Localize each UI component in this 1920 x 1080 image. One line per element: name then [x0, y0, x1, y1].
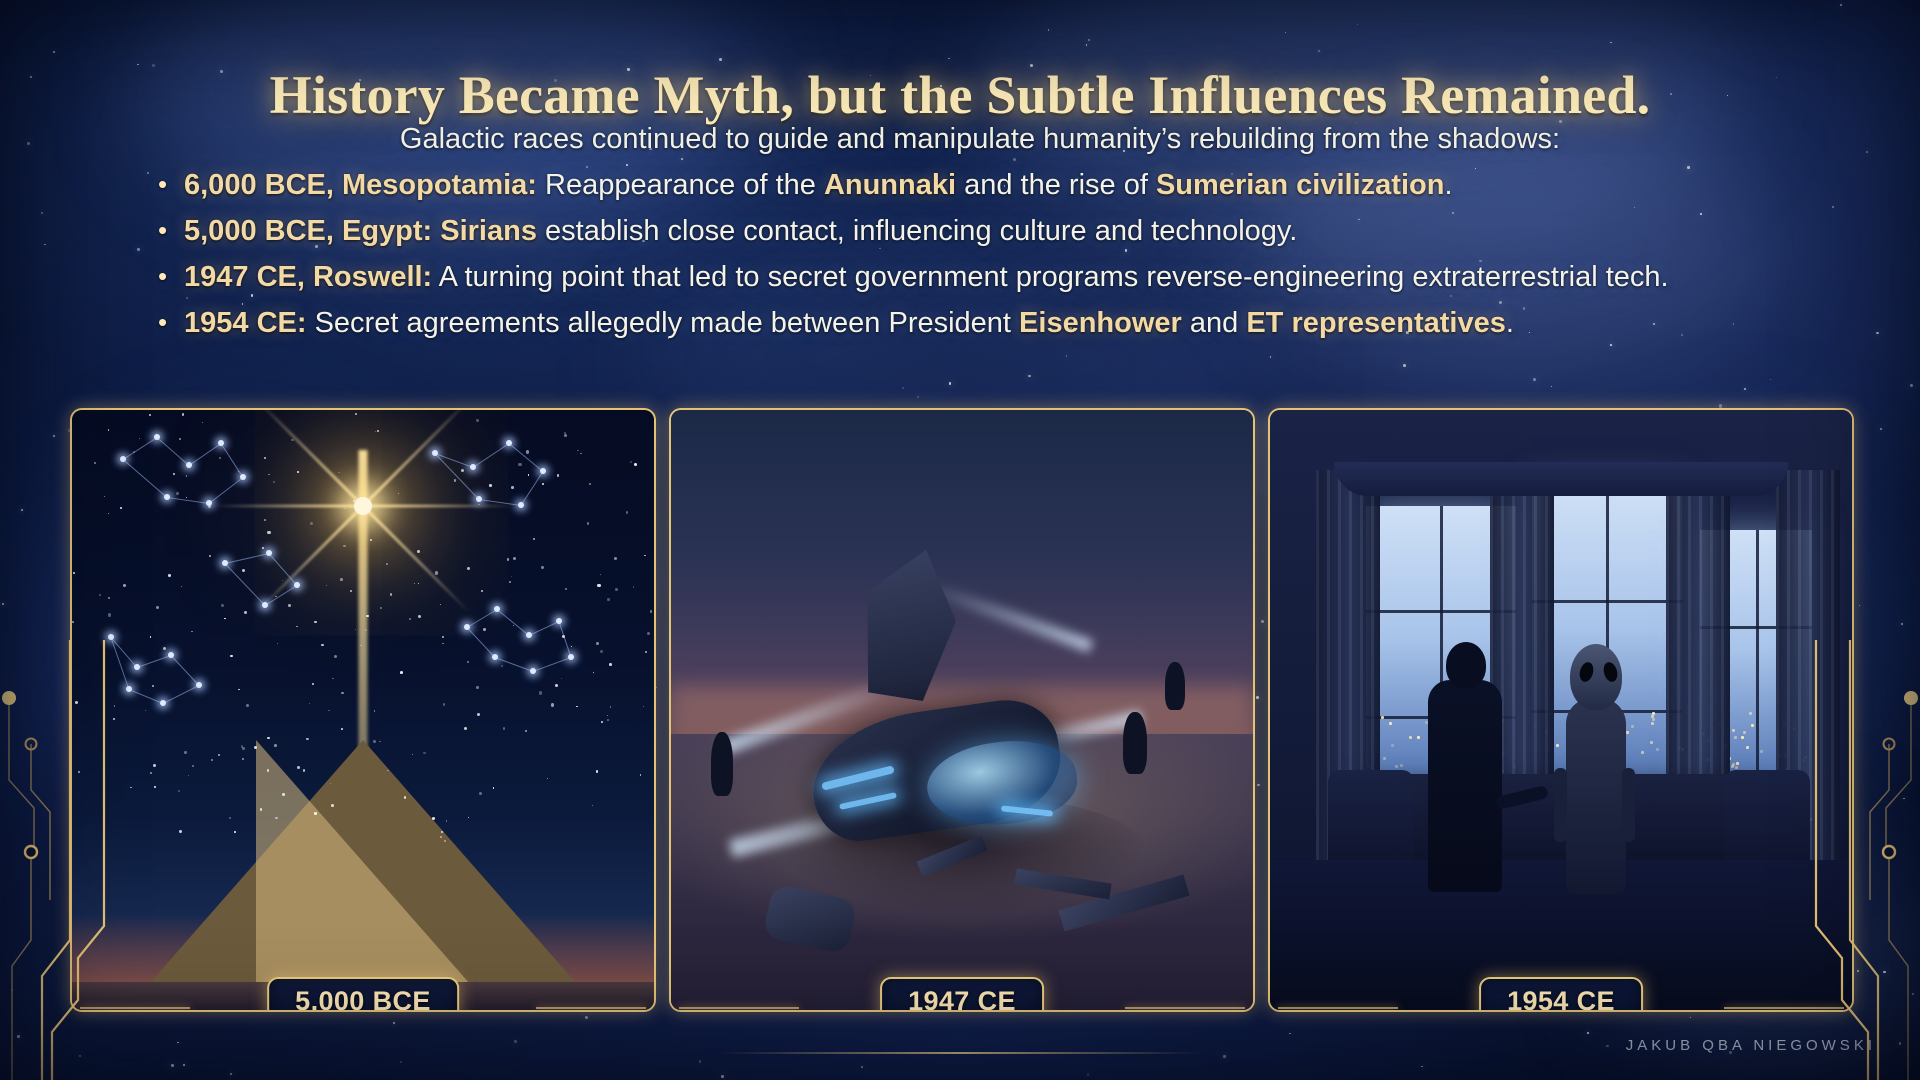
star	[614, 557, 617, 560]
star	[242, 569, 245, 572]
star	[334, 655, 337, 658]
star	[338, 472, 340, 474]
constellation-star	[154, 434, 160, 440]
craft-fin	[852, 542, 966, 705]
star	[297, 471, 299, 473]
star	[277, 643, 278, 644]
scene-oval-office-meeting	[1270, 410, 1852, 1010]
star	[108, 613, 111, 616]
star	[108, 597, 110, 599]
star	[489, 484, 491, 486]
footer-rule	[720, 1052, 1200, 1054]
bullet-lead: 1954 CE:	[184, 307, 307, 339]
constellation-line	[221, 443, 244, 478]
star	[219, 457, 221, 459]
star	[634, 463, 637, 466]
star	[539, 691, 542, 694]
panel-caption-1: 5,000 BCE	[267, 977, 459, 1012]
star	[306, 738, 308, 740]
constellation-star	[186, 462, 192, 468]
star	[145, 710, 146, 711]
constellation-line	[509, 443, 544, 472]
star	[191, 631, 193, 633]
star	[186, 475, 187, 476]
constellation-line	[123, 437, 158, 460]
star	[507, 558, 510, 561]
bullet-text: Reappearance of the	[537, 169, 824, 201]
star	[330, 783, 331, 784]
constellation-star	[568, 654, 574, 660]
constellation-star	[168, 652, 174, 658]
star	[514, 1040, 516, 1042]
constellation-star	[164, 494, 170, 500]
constellation-line	[521, 471, 544, 506]
star	[179, 438, 181, 440]
star	[332, 678, 334, 680]
constellation-star	[222, 560, 228, 566]
star	[597, 584, 600, 587]
star	[262, 547, 264, 549]
caption-connector	[1724, 1007, 1844, 1009]
star	[481, 590, 483, 592]
bullet-item: 5,000 BCE, Egypt: Sirians establish clos…	[150, 208, 1850, 254]
star	[626, 511, 629, 514]
star	[483, 628, 486, 631]
star	[72, 621, 74, 623]
star	[386, 563, 388, 565]
man-silhouette	[1428, 680, 1502, 892]
star	[234, 831, 236, 833]
star	[1048, 29, 1050, 31]
star	[719, 58, 722, 61]
star	[577, 450, 579, 452]
star	[186, 497, 187, 498]
star	[211, 759, 213, 761]
star	[370, 539, 372, 541]
bright-star-icon	[354, 497, 372, 515]
star	[291, 439, 293, 441]
star	[202, 422, 203, 423]
constellation-line	[269, 553, 298, 586]
star	[114, 705, 115, 706]
city-light	[1626, 731, 1629, 734]
star	[580, 453, 582, 455]
star	[130, 787, 132, 789]
star	[467, 567, 470, 570]
bullet-text: .	[1506, 307, 1514, 339]
star	[1403, 364, 1406, 367]
star	[509, 581, 511, 583]
star	[163, 647, 166, 650]
star	[1899, 1042, 1901, 1044]
star	[267, 531, 270, 534]
constellation-line	[157, 437, 190, 466]
city-light	[1651, 722, 1654, 725]
star	[454, 479, 456, 481]
star	[156, 606, 159, 609]
star	[644, 555, 646, 557]
star	[321, 644, 324, 647]
star	[1587, 1032, 1589, 1034]
star	[168, 574, 171, 577]
city-light	[1656, 748, 1659, 751]
star	[274, 744, 277, 747]
star	[609, 663, 612, 666]
star	[1270, 356, 1271, 357]
constellation-line	[467, 609, 498, 628]
pyramid-lit-face	[256, 740, 470, 984]
city-light	[1383, 757, 1386, 760]
body-copy: Galactic races continued to guide and ma…	[150, 116, 1850, 346]
star	[600, 650, 603, 653]
constellation-star	[476, 496, 482, 502]
bullet-lead: 5,000 BCE, Egypt:	[184, 215, 432, 247]
star	[343, 545, 345, 547]
star	[150, 772, 152, 774]
star	[721, 1075, 724, 1078]
city-light	[1395, 765, 1398, 768]
star	[633, 586, 634, 587]
constellation-star	[530, 668, 536, 674]
star	[557, 474, 560, 477]
constellation-star	[266, 550, 272, 556]
star	[341, 692, 344, 695]
star	[353, 500, 355, 502]
bullet-lead: 6,000 BCE, Mesopotamia:	[184, 169, 537, 201]
star	[441, 831, 443, 833]
constellation-star	[518, 502, 524, 508]
star	[547, 778, 548, 779]
constellation-line	[163, 685, 199, 704]
city-light	[1652, 718, 1655, 721]
constellation-star	[134, 664, 140, 670]
star	[650, 610, 653, 613]
star	[108, 429, 110, 431]
scene-crashed-craft	[671, 410, 1253, 1010]
star	[104, 496, 105, 497]
star	[355, 629, 356, 630]
star	[464, 727, 467, 730]
star	[75, 701, 78, 704]
star	[303, 769, 306, 772]
constellation-star	[294, 582, 300, 588]
star	[1289, 1033, 1291, 1035]
star	[296, 626, 298, 628]
city-light	[1391, 744, 1394, 747]
alien-arm	[1622, 768, 1635, 842]
city-light	[1736, 762, 1739, 765]
star	[264, 457, 266, 459]
constellation-line	[529, 621, 559, 636]
bullet-highlight: ET representatives	[1246, 307, 1506, 339]
city-light	[1400, 764, 1403, 767]
star	[443, 703, 446, 706]
constellation-line	[533, 657, 571, 672]
constellation-line	[111, 637, 138, 668]
star	[242, 747, 244, 749]
star	[503, 727, 506, 730]
star	[467, 661, 468, 662]
star	[513, 557, 516, 560]
star	[178, 790, 180, 792]
constellation-line	[167, 497, 209, 504]
constellation-line	[467, 627, 496, 658]
panel-caption-2: 1947 CE	[880, 977, 1044, 1012]
star	[610, 706, 611, 707]
star	[948, 58, 950, 60]
alien-silhouette	[1566, 698, 1626, 894]
star	[501, 665, 503, 667]
constellation-line	[497, 609, 530, 636]
star	[1088, 39, 1090, 41]
star	[1866, 151, 1868, 153]
star	[78, 771, 80, 773]
constellation-star	[506, 440, 512, 446]
man-head	[1446, 642, 1486, 688]
star	[99, 594, 101, 596]
star	[355, 413, 357, 415]
city-light	[1732, 729, 1735, 732]
star	[341, 728, 343, 730]
star	[418, 583, 419, 584]
star	[150, 636, 152, 638]
star	[592, 805, 593, 806]
bullet-item: 1954 CE: Secret agreements allegedly mad…	[150, 300, 1850, 346]
star	[230, 655, 232, 657]
star	[288, 604, 291, 607]
star	[79, 1055, 80, 1056]
star	[414, 583, 416, 585]
star	[615, 588, 618, 591]
star	[645, 651, 647, 653]
panel-caption-3: 1954 CE	[1479, 977, 1643, 1012]
city-light	[1741, 736, 1744, 739]
star	[541, 566, 543, 568]
caption-connector	[1125, 1007, 1245, 1009]
star	[221, 604, 224, 607]
star	[528, 474, 529, 475]
star	[409, 618, 412, 621]
bullet-highlight: Eisenhower	[1019, 307, 1182, 339]
star	[1533, 378, 1536, 381]
star	[1876, 332, 1879, 335]
alien-arm	[1554, 768, 1567, 842]
star	[350, 590, 352, 592]
bullet-lead: 1947 CE, Roswell:	[184, 261, 432, 293]
star	[242, 758, 244, 760]
star	[365, 629, 367, 631]
star	[1285, 32, 1286, 33]
star	[418, 615, 421, 618]
star	[173, 473, 175, 475]
bullet-highlight: Anunnaki	[824, 169, 956, 201]
star	[564, 434, 567, 437]
image-panel-2[interactable]: 1947 CE	[669, 408, 1255, 1012]
bullet-text: .	[1444, 169, 1452, 201]
city-light	[1751, 724, 1754, 727]
star	[565, 588, 568, 591]
bullet-text: Secret agreements allegedly made between…	[307, 307, 1020, 339]
star	[1086, 44, 1087, 45]
bullet-highlight: Sumerian civilization	[1156, 169, 1444, 201]
star	[477, 713, 480, 716]
star	[643, 706, 644, 707]
star	[1318, 50, 1320, 52]
investigator-silhouette	[1123, 712, 1147, 774]
watermark: JAKUB QBA NIEGOWSKI	[1626, 1037, 1876, 1054]
star	[400, 1061, 402, 1063]
city-light	[1381, 716, 1384, 719]
star	[53, 51, 55, 53]
city-light	[1734, 736, 1737, 739]
city-light	[1732, 763, 1735, 766]
city-light	[1631, 725, 1634, 728]
scene-pyramid-star	[72, 410, 654, 1010]
star	[400, 671, 403, 674]
star	[17, 1035, 20, 1038]
star	[360, 645, 361, 646]
star	[176, 492, 179, 495]
bullet-highlight: Sirians	[440, 215, 537, 247]
star	[1840, 4, 1842, 6]
star	[1028, 375, 1030, 377]
star	[525, 730, 527, 732]
star	[1066, 355, 1067, 356]
star	[1910, 384, 1913, 387]
star	[576, 706, 577, 707]
star	[917, 396, 919, 398]
star	[209, 555, 211, 557]
star	[398, 493, 399, 494]
star	[152, 685, 155, 688]
star	[412, 754, 413, 755]
star	[182, 413, 184, 415]
bullet-text: establish close contact, influencing cul…	[537, 215, 1297, 247]
star	[589, 483, 591, 485]
star	[137, 248, 139, 250]
bullet-text: A turning point that led to secret gover…	[432, 261, 1668, 293]
city-light	[1735, 766, 1738, 769]
star	[328, 710, 330, 712]
constellation-line	[137, 655, 171, 668]
star	[171, 1064, 174, 1067]
star	[699, 1060, 702, 1063]
constellation-star	[432, 450, 438, 456]
star	[902, 387, 904, 389]
star	[476, 686, 478, 688]
star	[647, 632, 650, 635]
star	[476, 419, 479, 422]
star	[230, 1073, 232, 1075]
constellation-line	[129, 689, 163, 704]
constellation-line	[111, 637, 130, 689]
constellation-star	[470, 464, 476, 470]
star	[861, 1066, 864, 1069]
star	[511, 486, 514, 489]
constellation-star	[556, 618, 562, 624]
bullet-list: 6,000 BCE, Mesopotamia: Reappearance of …	[150, 162, 1850, 346]
star	[1087, 1073, 1089, 1075]
star	[1744, 388, 1746, 390]
constellation-line	[123, 459, 168, 498]
star	[440, 604, 441, 605]
bullet-item: 1947 CE, Roswell: A turning point that l…	[150, 254, 1850, 300]
star	[154, 786, 156, 788]
star	[511, 576, 512, 577]
constellation-line	[225, 553, 269, 564]
star	[373, 740, 376, 743]
star	[27, 142, 30, 145]
star	[377, 430, 379, 432]
star	[326, 585, 327, 586]
star	[123, 584, 126, 587]
star	[587, 522, 589, 524]
constellation-line	[209, 477, 244, 504]
star	[309, 703, 310, 704]
city-light	[1650, 741, 1653, 744]
star	[593, 672, 594, 673]
intro-line: Galactic races continued to guide and ma…	[150, 116, 1850, 162]
constellation-star	[540, 468, 546, 474]
star	[260, 808, 262, 810]
star	[139, 438, 140, 439]
star	[533, 538, 534, 539]
star	[607, 715, 608, 716]
star	[246, 704, 249, 707]
star	[366, 615, 368, 617]
star	[1357, 24, 1358, 25]
star	[41, 212, 43, 214]
image-panel-3[interactable]: 1954 CE	[1268, 408, 1854, 1012]
window-mullion	[1532, 600, 1682, 603]
investigator-silhouette	[1165, 662, 1185, 710]
constellation-star	[206, 500, 212, 506]
star	[268, 474, 269, 475]
constellation-line	[225, 563, 266, 606]
star	[442, 643, 444, 645]
star	[181, 586, 182, 587]
constellation-line	[189, 443, 222, 466]
star	[1610, 42, 1611, 43]
star	[640, 774, 642, 776]
constellation-star	[464, 624, 470, 630]
star	[601, 721, 603, 723]
image-panel-1[interactable]: 5,000 BCE	[70, 408, 656, 1012]
star	[314, 621, 317, 624]
caption-connector	[80, 1007, 190, 1009]
star	[1551, 386, 1552, 387]
constellation-star	[218, 440, 224, 446]
star	[526, 450, 529, 453]
star	[108, 513, 109, 514]
constellation-star	[526, 632, 532, 638]
star	[1606, 1045, 1608, 1047]
star	[542, 483, 544, 485]
star	[380, 607, 382, 609]
star	[44, 244, 46, 246]
star	[149, 414, 151, 416]
star	[442, 636, 443, 637]
slide-canvas: History Became Myth, but the Subtle Infl…	[0, 0, 1920, 1080]
star	[374, 710, 375, 711]
star	[314, 812, 317, 815]
star	[244, 611, 247, 614]
star	[224, 618, 226, 620]
constellation-star	[492, 654, 498, 660]
star	[461, 469, 464, 472]
constellation-star	[196, 682, 202, 688]
star	[630, 461, 632, 463]
